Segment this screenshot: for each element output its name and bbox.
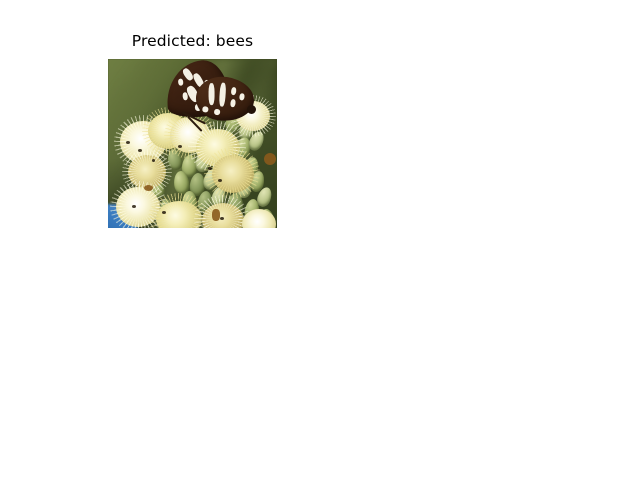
flower-stamens bbox=[204, 147, 260, 199]
butterfly-head bbox=[247, 105, 256, 114]
insect-fleck bbox=[132, 205, 136, 208]
figure-canvas: Predicted: bees bbox=[0, 0, 640, 480]
insect-fleck bbox=[178, 145, 182, 148]
insect-fleck bbox=[126, 141, 130, 144]
wing-spot bbox=[231, 87, 237, 96]
page-title: Predicted: bees bbox=[108, 31, 277, 51]
wing-band bbox=[219, 82, 227, 106]
insect-fleck bbox=[144, 185, 153, 191]
insect-fleck bbox=[264, 153, 276, 165]
insect-fleck bbox=[208, 167, 212, 170]
wing-spot bbox=[214, 109, 221, 116]
wing-spot bbox=[230, 99, 236, 108]
wing-band bbox=[209, 83, 215, 105]
wing-spot bbox=[239, 93, 245, 101]
wing-spot bbox=[182, 92, 188, 100]
insect-fleck bbox=[212, 209, 220, 221]
insect-fleck bbox=[162, 211, 166, 214]
insect-fleck bbox=[152, 159, 155, 162]
insect-fleck bbox=[138, 149, 142, 152]
butterfly bbox=[163, 61, 255, 137]
insect-fleck bbox=[218, 179, 222, 182]
insect-fleck bbox=[220, 217, 224, 220]
prediction-image bbox=[108, 59, 277, 228]
wing-spot bbox=[202, 106, 209, 113]
wing-spot bbox=[178, 78, 184, 85]
